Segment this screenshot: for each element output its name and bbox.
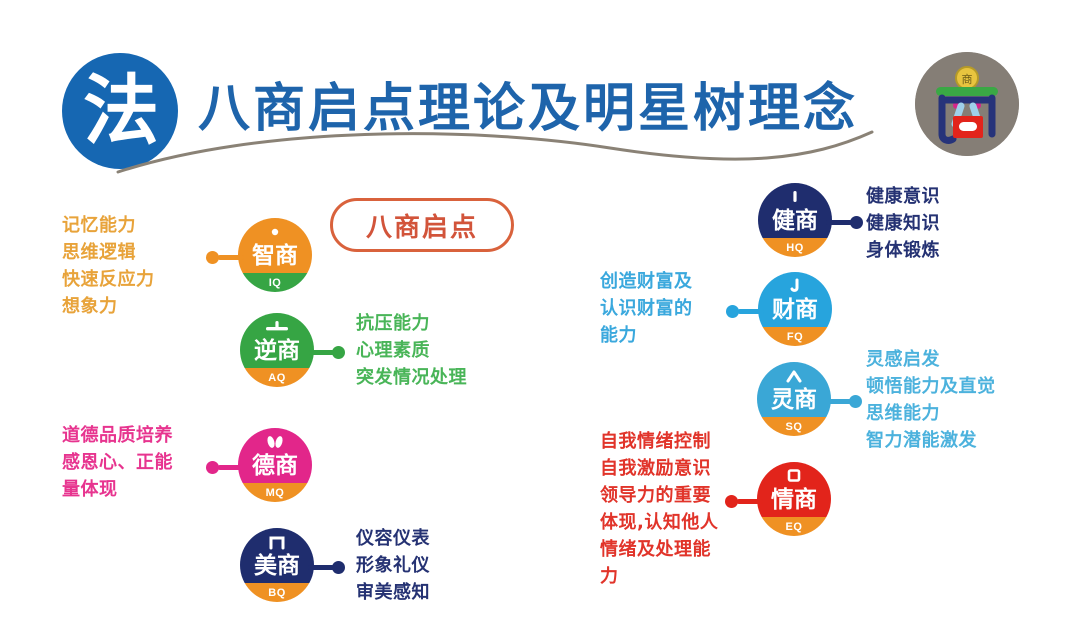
node-iq-label: 智商 bbox=[238, 245, 312, 268]
node-iq-code: IQ bbox=[238, 278, 312, 289]
text-fq: 创造财富及 认识财富的 能力 bbox=[600, 268, 693, 349]
text-iq-line-2: 快速反应力 bbox=[62, 269, 155, 290]
connector-fq-dot bbox=[726, 305, 739, 318]
text-aq-line-1: 心理素质 bbox=[356, 340, 430, 361]
connector-sq-dot bbox=[849, 395, 862, 408]
text-sq-line-0: 灵感启发 bbox=[866, 349, 940, 370]
connector-sq bbox=[825, 394, 865, 409]
text-sq-line-1: 顿悟能力及直觉 bbox=[866, 376, 996, 397]
connector-hq-dot bbox=[850, 216, 863, 229]
connector-mq-dot bbox=[206, 461, 219, 474]
center-label-badge: 八商启点 bbox=[330, 198, 514, 252]
connector-eq-dot bbox=[725, 495, 738, 508]
text-iq: 记忆能力 思维逻辑 快速反应力 想象力 bbox=[62, 212, 155, 320]
svg-text:商: 商 bbox=[962, 72, 973, 86]
text-aq: 抗压能力 心理素质 突发情况处理 bbox=[356, 310, 467, 391]
swoosh-divider bbox=[0, 120, 1080, 180]
shang-brand-logo-icon: 商 bbox=[915, 52, 1019, 156]
node-eq[interactable]: 情商 EQ bbox=[757, 462, 831, 536]
text-bq-line-2: 审美感知 bbox=[356, 582, 430, 603]
text-hq-line-1: 健康知识 bbox=[866, 213, 940, 234]
connector-aq-dot bbox=[332, 346, 345, 359]
bar-icon bbox=[758, 189, 832, 207]
node-aq-code: AQ bbox=[240, 373, 314, 384]
text-fq-line-2: 能力 bbox=[600, 325, 637, 346]
node-eq-label: 情商 bbox=[757, 489, 831, 512]
wings-icon bbox=[238, 434, 312, 452]
node-hq-code: HQ bbox=[758, 243, 832, 254]
header: 法 八商启点理论及明星树理念 商 bbox=[0, 0, 1080, 175]
node-aq-label: 逆商 bbox=[240, 340, 314, 363]
text-bq-line-1: 形象礼仪 bbox=[356, 555, 430, 576]
text-sq-line-3: 智力潜能激发 bbox=[866, 430, 977, 451]
node-hq-label: 健商 bbox=[758, 210, 832, 233]
node-fq-code: FQ bbox=[758, 332, 832, 343]
text-fq-line-0: 创造财富及 bbox=[600, 271, 693, 292]
text-eq: 自我情绪控制 自我激励意识 领导力的重要 体现,认知他人 情绪及处理能 力 bbox=[600, 428, 718, 590]
connector-aq bbox=[308, 345, 348, 360]
text-aq-line-0: 抗压能力 bbox=[356, 313, 430, 334]
node-sq[interactable]: 灵商 SQ bbox=[757, 362, 831, 436]
node-sq-code: SQ bbox=[757, 422, 831, 433]
node-hq[interactable]: 健商 HQ bbox=[758, 183, 832, 257]
connector-iq-dot bbox=[206, 251, 219, 264]
connector-bq-dot bbox=[332, 561, 345, 574]
text-eq-line-1: 自我激励意识 bbox=[600, 458, 711, 479]
text-eq-line-0: 自我情绪控制 bbox=[600, 431, 711, 452]
node-sq-label: 灵商 bbox=[757, 389, 831, 412]
node-bq-code: BQ bbox=[240, 588, 314, 599]
text-iq-line-3: 想象力 bbox=[62, 296, 118, 317]
text-bq: 仪容仪表 形象礼仪 审美感知 bbox=[356, 525, 430, 606]
text-eq-line-3: 体现,认知他人 bbox=[600, 512, 718, 533]
center-label-text: 八商启点 bbox=[366, 207, 478, 244]
poster-canvas: 法 八商启点理论及明星树理念 商 bbox=[0, 0, 1080, 636]
node-fq-label: 财商 bbox=[758, 299, 832, 322]
anchor-icon bbox=[240, 319, 314, 337]
text-mq-line-0: 道德品质培养 bbox=[62, 425, 173, 446]
text-sq-line-2: 思维能力 bbox=[866, 403, 940, 424]
text-mq-line-1: 感恩心、正能 bbox=[62, 452, 173, 473]
text-hq-line-2: 身体锻炼 bbox=[866, 240, 940, 261]
text-mq-line-2: 量体现 bbox=[62, 479, 118, 500]
node-mq-code: MQ bbox=[238, 488, 312, 499]
node-bq-label: 美商 bbox=[240, 555, 314, 578]
node-aq[interactable]: 逆商 AQ bbox=[240, 313, 314, 387]
node-bq[interactable]: 美商 BQ bbox=[240, 528, 314, 602]
text-iq-line-1: 思维逻辑 bbox=[62, 242, 136, 263]
text-bq-line-0: 仪容仪表 bbox=[356, 528, 430, 549]
node-mq[interactable]: 德商 MQ bbox=[238, 428, 312, 502]
hook-icon bbox=[758, 278, 832, 296]
caret-icon bbox=[757, 368, 831, 386]
text-hq: 健康意识 健康知识 身体锻炼 bbox=[866, 183, 940, 264]
square-icon bbox=[757, 468, 831, 486]
text-hq-line-0: 健康意识 bbox=[866, 186, 940, 207]
dot-icon bbox=[238, 224, 312, 242]
text-fq-line-1: 认识财富的 bbox=[600, 298, 693, 319]
text-mq: 道德品质培养 感恩心、正能 量体现 bbox=[62, 422, 173, 503]
connector-bq bbox=[308, 560, 348, 575]
text-aq-line-2: 突发情况处理 bbox=[356, 367, 467, 388]
gate-icon bbox=[240, 534, 314, 552]
node-iq[interactable]: 智商 IQ bbox=[238, 218, 312, 292]
text-eq-line-4: 情绪及处理能 bbox=[600, 539, 711, 560]
connector-hq bbox=[826, 215, 866, 230]
text-eq-line-5: 力 bbox=[600, 566, 619, 587]
text-eq-line-2: 领导力的重要 bbox=[600, 485, 711, 506]
node-mq-label: 德商 bbox=[238, 455, 312, 478]
text-iq-line-0: 记忆能力 bbox=[62, 215, 136, 236]
text-sq: 灵感启发 顿悟能力及直觉 思维能力 智力潜能激发 bbox=[866, 346, 996, 454]
node-eq-code: EQ bbox=[757, 522, 831, 533]
node-fq[interactable]: 财商 FQ bbox=[758, 272, 832, 346]
